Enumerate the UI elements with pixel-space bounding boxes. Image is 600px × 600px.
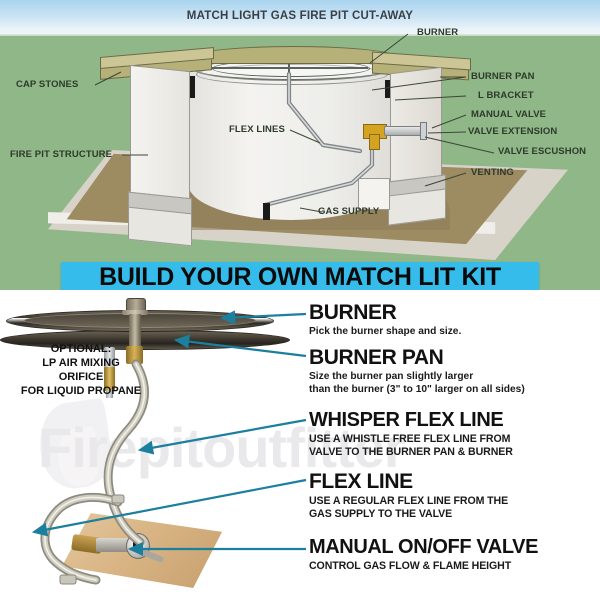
hose-ferrule-bottom xyxy=(60,575,76,584)
kit-item-manual-valve-heading: MANUAL ON/OFF VALVE xyxy=(309,537,538,557)
build-your-own-banner: BUILD YOUR OWN MATCH LIT KIT xyxy=(61,262,539,293)
kit-item-flex-line-line-2: GAS SUPPLY TO THE VALVE xyxy=(309,508,508,521)
kit-item-burner: BURNER Pick the burner shape and size. xyxy=(309,302,461,339)
hose-ferrule-top xyxy=(112,495,124,503)
kit-panel: Firepitoutfitter xyxy=(0,290,600,600)
kit-item-whisper-flex-line: WHISPER FLEX LINE USE A WHISTLE FREE FLE… xyxy=(309,410,513,459)
kit-item-whisper-flex-line-line-1: USE A WHISTLE FREE FLEX LINE FROM xyxy=(309,433,513,446)
cutaway-label-gas-supply: GAS SUPPLY xyxy=(318,206,379,217)
kit-item-flex-line-line-1: USE A REGULAR FLEX LINE FROM THE xyxy=(309,495,508,508)
cutaway-label-flex-lines: FLEX LINES xyxy=(229,124,285,135)
cutaway-label-l-bracket: L BRACKET xyxy=(478,90,534,101)
optional-note-line-3: ORIFICE xyxy=(6,370,156,384)
infographic-page: MATCH LIGHT GAS FIRE PIT CUT-AWAY xyxy=(0,0,600,600)
kit-item-manual-valve: MANUAL ON/OFF VALVE CONTROL GAS FLOW & F… xyxy=(309,537,538,573)
cutaway-leader-lines xyxy=(0,0,600,290)
cutaway-label-valve-escushon: VALVE ESCUSHON xyxy=(498,146,586,157)
optional-note-line-1: OPTIONAL: xyxy=(6,342,156,356)
cutaway-diagram-panel: MATCH LIGHT GAS FIRE PIT CUT-AWAY xyxy=(0,0,600,290)
cutaway-label-burner-pan: BURNER PAN xyxy=(471,71,535,82)
optional-note-line-4: FOR LIQUID PROPANE xyxy=(6,384,156,398)
optional-orifice-note: OPTIONAL: LP AIR MIXING ORIFICE FOR LIQU… xyxy=(6,342,156,398)
cutaway-label-venting: VENTING xyxy=(471,167,514,178)
kit-item-whisper-flex-line-heading: WHISPER FLEX LINE xyxy=(309,410,513,430)
kit-item-burner-pan-heading: BURNER PAN xyxy=(309,347,525,368)
kit-item-whisper-flex-line-line-2: VALVE TO THE BURNER PAN & BURNER xyxy=(309,446,513,459)
kit-item-burner-pan-line-2: than the burner (3" to 10" larger on all… xyxy=(309,384,525,397)
kit-item-flex-line: FLEX LINE USE A REGULAR FLEX LINE FROM T… xyxy=(309,471,508,521)
kit-item-flex-line-heading: FLEX LINE xyxy=(309,471,508,492)
cutaway-label-burner: BURNER xyxy=(417,27,458,38)
cutaway-label-cap-stones: CAP STONES xyxy=(16,79,78,90)
kit-item-burner-pan: BURNER PAN Size the burner pan slightly … xyxy=(309,347,525,396)
cutaway-label-valve-extension: VALVE EXTENSION xyxy=(468,126,557,137)
kit-item-burner-line-1: Pick the burner shape and size. xyxy=(309,326,461,339)
cutaway-label-manual-valve: MANUAL VALVE xyxy=(471,109,546,120)
kit-item-burner-pan-line-1: Size the burner pan slightly larger xyxy=(309,371,525,384)
cutaway-label-fire-pit-structure: FIRE PIT STRUCTURE xyxy=(10,149,112,160)
kit-item-manual-valve-line-1: CONTROL GAS FLOW & FLAME HEIGHT xyxy=(309,560,538,573)
optional-note-line-2: LP AIR MIXING xyxy=(6,356,156,370)
kit-item-burner-heading: BURNER xyxy=(309,302,461,323)
banner-title: BUILD YOUR OWN MATCH LIT KIT xyxy=(99,265,501,290)
